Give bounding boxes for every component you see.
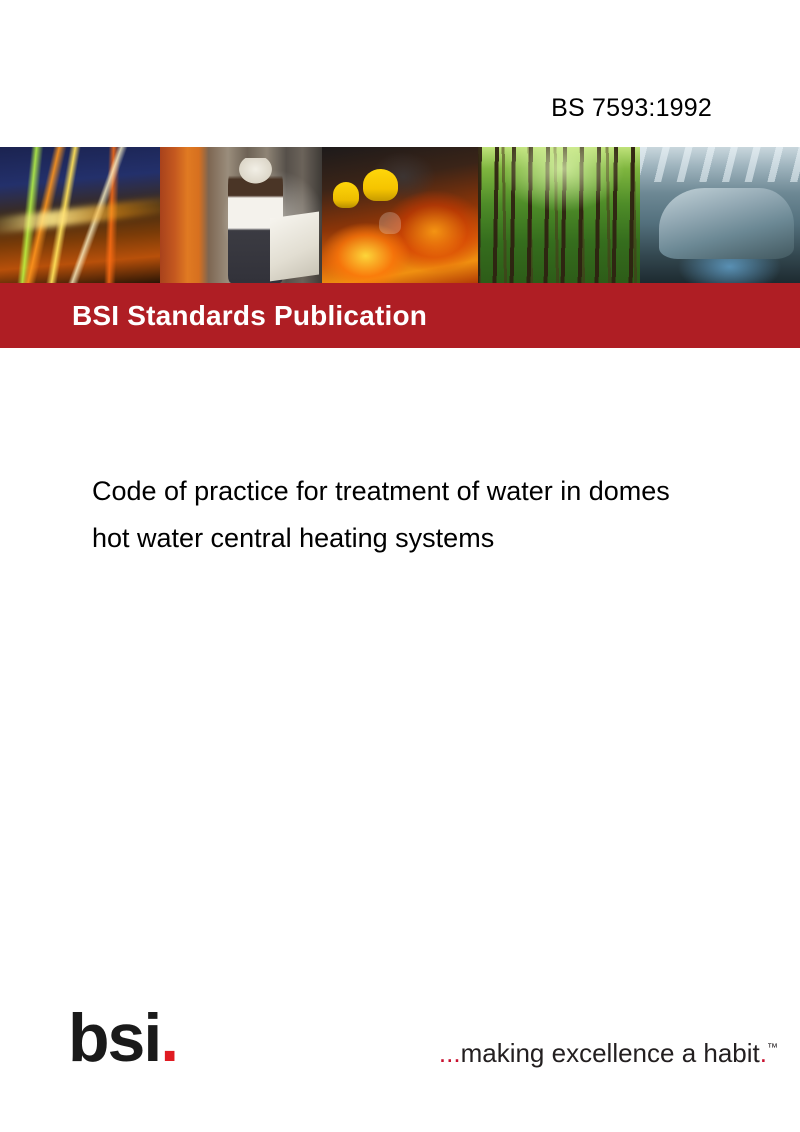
photo-panel-night-traffic-light-trails: [0, 147, 160, 283]
tagline-leading-ellipsis: ...: [439, 1038, 461, 1068]
page-title-line-1: Code of practice for treatment of water …: [92, 468, 800, 515]
tagline-text: making excellence a habit: [461, 1038, 760, 1068]
tagline-full-stop: .: [760, 1038, 767, 1068]
banner-label: BSI Standards Publication: [72, 300, 427, 332]
photo-panel-firefighters-flames: [322, 147, 478, 283]
bsi-logo-text: bsi: [68, 1000, 160, 1076]
bsi-logo-dot: .: [160, 1000, 177, 1076]
photo-panel-car-assembly-line: [640, 147, 800, 283]
standard-number: BS 7593:1992: [551, 94, 712, 123]
photo-panel-pine-forest: [478, 147, 640, 283]
page-title-line-2: hot water central heating systems: [92, 515, 800, 562]
photo-panel-warehouse-worker: [160, 147, 322, 283]
page-title: Code of practice for treatment of water …: [92, 468, 800, 562]
cover-photo-strip: [0, 147, 800, 283]
bsi-logo: bsi.: [68, 1004, 177, 1072]
trademark-icon: ™: [767, 1042, 778, 1054]
bsi-tagline: ...making excellence a habit.™: [439, 1038, 778, 1069]
bsi-standards-publication-banner: BSI Standards Publication: [0, 283, 800, 348]
